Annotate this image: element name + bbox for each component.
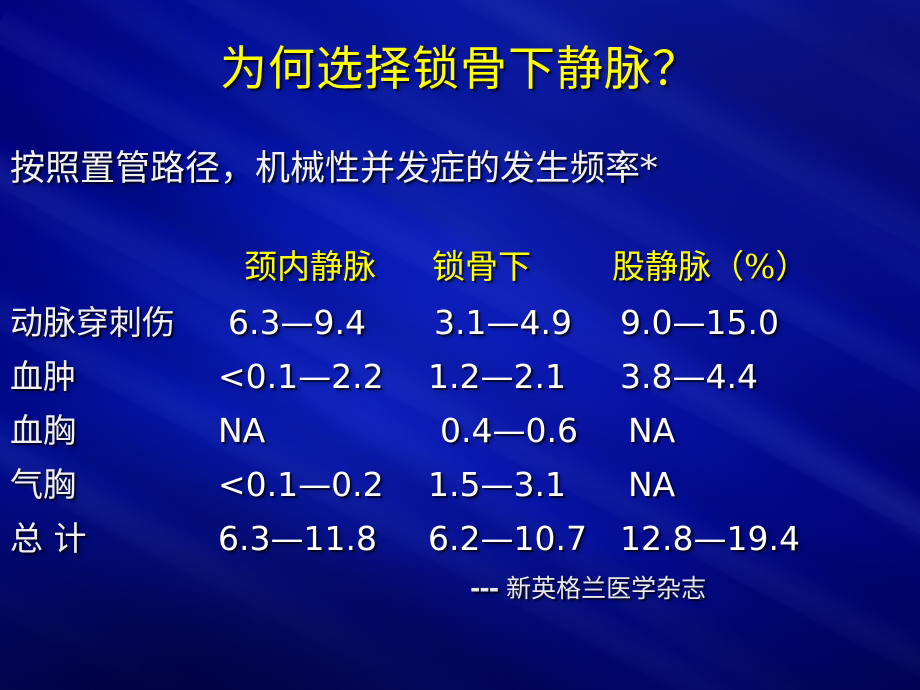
table-header-row: 颈内静脉 锁骨下 股静脉（%）: [0, 250, 920, 306]
cell-hematoma-femoral: 3.8—4.4: [620, 360, 758, 393]
cell-hematoma-subclavian: 1.2—2.1: [428, 360, 566, 393]
column-header-subclavian: 锁骨下: [432, 250, 531, 283]
row-label-total: 总 计: [10, 522, 87, 555]
slide-title: 为何选择锁骨下静脉？: [0, 46, 920, 93]
row-label-hemothorax: 血胸: [10, 414, 76, 447]
row-label-arterial-puncture: 动脉穿刺伤: [10, 306, 175, 339]
cell-total-femoral: 12.8—19.4: [620, 522, 800, 555]
table-row: 血胸 NA 0.4—0.6 NA: [0, 414, 920, 468]
cell-pneumothorax-internal-jugular: <0.1—0.2: [218, 468, 384, 501]
table-row: 血肿 <0.1—2.2 1.2—2.1 3.8—4.4: [0, 360, 920, 414]
cell-total-internal-jugular: 6.3—11.8: [218, 522, 377, 555]
slide-content: 为何选择锁骨下静脉？ 按照置管路径，机械性并发症的发生频率* 颈内静脉 锁骨下 …: [0, 0, 920, 690]
slide-subtitle: 按照置管路径，机械性并发症的发生频率*: [10, 152, 658, 187]
cell-arterial-puncture-subclavian: 3.1—4.9: [434, 306, 572, 339]
column-header-femoral: 股静脉（%）: [612, 250, 808, 283]
table-row: 总 计 6.3—11.8 6.2—10.7 12.8—19.4: [0, 522, 920, 576]
cell-hematoma-internal-jugular: <0.1—2.2: [218, 360, 384, 393]
cell-arterial-puncture-femoral: 9.0—15.0: [620, 306, 779, 339]
attribution-dashes: ---: [470, 574, 498, 603]
cell-arterial-puncture-internal-jugular: 6.3—9.4: [228, 306, 366, 339]
table-row: 动脉穿刺伤 6.3—9.4 3.1—4.9 9.0—15.0: [0, 306, 920, 360]
row-label-hematoma: 血肿: [10, 360, 76, 393]
source-attribution: ---新英格兰医学杂志: [470, 576, 706, 601]
cell-hemothorax-internal-jugular: NA: [218, 414, 265, 447]
column-header-internal-jugular: 颈内静脉: [244, 250, 376, 283]
cell-total-subclavian: 6.2—10.7: [428, 522, 587, 555]
cell-pneumothorax-subclavian: 1.5—3.1: [428, 468, 566, 501]
cell-hemothorax-subclavian: 0.4—0.6: [440, 414, 578, 447]
cell-pneumothorax-femoral: NA: [628, 468, 675, 501]
attribution-source-text: 新英格兰医学杂志: [506, 574, 706, 603]
complications-table: 颈内静脉 锁骨下 股静脉（%） 动脉穿刺伤 6.3—9.4 3.1—4.9 9.…: [0, 250, 920, 576]
table-row: 气胸 <0.1—0.2 1.5—3.1 NA: [0, 468, 920, 522]
row-label-pneumothorax: 气胸: [10, 468, 76, 501]
presentation-slide: 为何选择锁骨下静脉？ 按照置管路径，机械性并发症的发生频率* 颈内静脉 锁骨下 …: [0, 0, 920, 690]
cell-hemothorax-femoral: NA: [628, 414, 675, 447]
